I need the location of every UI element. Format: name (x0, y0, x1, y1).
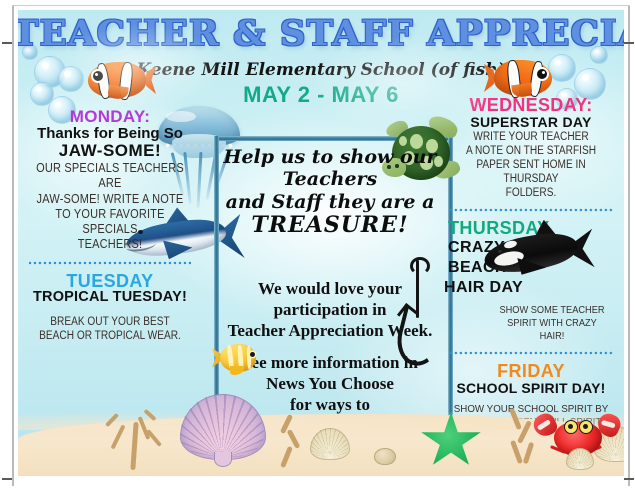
thursday-body: SHOW SOME TEACHER SPIRIT WITH CRAZY HAIR… (496, 304, 609, 342)
friday-subtitle: SCHOOL SPIRIT DAY! (442, 381, 620, 396)
coral-icon (104, 408, 168, 470)
monday-block: MONDAY: Thanks for Being So JAW-SOME! OU… (22, 108, 198, 253)
wednesday-body-line: A NOTE ON THE STARFISH (453, 144, 610, 158)
tuesday-body-line: BEACH OR TROPICAL WEAR. (33, 329, 188, 343)
clownfish-icon (82, 56, 156, 104)
monday-body-line: TO YOUR FAVORITE SPECIALS (33, 207, 188, 238)
wednesday-body-line: PAPER SENT HOME IN THURSDAY (453, 158, 610, 186)
monday-body-line: OUR SPECIALS TEACHERS ARE (33, 161, 188, 192)
yellow-fish-icon (212, 340, 264, 376)
tuesday-subtitle: TROPICAL TUESDAY! (22, 290, 198, 306)
seaweed-icon (280, 414, 302, 470)
divider-wednesday-thursday (449, 207, 613, 213)
thursday-body-line: SPIRIT WITH CRAZY (496, 317, 609, 330)
fishing-hook-icon (396, 260, 436, 368)
tuesday-heading: TUESDAY (22, 272, 198, 291)
wednesday-block: WEDNESDAY: SUPERSTAR DAY WRITE YOUR TEAC… (442, 96, 620, 200)
scan-edge-right (628, 6, 630, 486)
scallop-shell-icon (566, 448, 592, 470)
crop-mark-bottom-right (624, 478, 634, 480)
center-script-line-3: and Staff they are a (214, 191, 446, 213)
divider-thursday-friday (449, 350, 613, 356)
friday-heading: FRIDAY (442, 362, 620, 381)
center-script-line-4: TREASURE! (214, 213, 446, 239)
monday-heading: MONDAY: (22, 108, 198, 126)
monday-body-line: TEACHERS! (33, 237, 188, 252)
thursday-body-line: SHOW SOME TEACHER (496, 304, 609, 317)
wednesday-body-line: WRITE YOUR TEACHER (453, 130, 610, 144)
seaweed-icon (510, 408, 536, 470)
crop-mark-top-left (2, 42, 12, 44)
center-script-block: Help us to show our Teachers and Staff t… (214, 146, 446, 239)
crop-mark-bottom-left (2, 478, 12, 480)
wednesday-body: WRITE YOUR TEACHER A NOTE ON THE STARFIS… (453, 130, 610, 200)
monday-body-line: JAW-SOME! WRITE A NOTE (33, 192, 188, 207)
center-script-line-1: Help us to show our (214, 146, 446, 168)
page-title: TEACHER & STAFF APPRECIATION WEEK (18, 16, 624, 51)
thursday-body-line: HAIR! (496, 330, 609, 343)
tuesday-block: TUESDAY TROPICAL TUESDAY! BREAK OUT YOUR… (22, 272, 198, 344)
crop-mark-top-right (624, 42, 634, 44)
monday-subtitle-2: JAW-SOME! (22, 142, 198, 161)
orca-whale-icon (476, 222, 596, 286)
starfish-icon (420, 412, 482, 470)
scallop-shell-icon (310, 428, 348, 462)
scan-edge-left (12, 6, 14, 486)
wednesday-subtitle: SUPERSTAR DAY (442, 115, 620, 130)
tuesday-body-line: BREAK OUT YOUR BEST (33, 315, 188, 329)
center-serif-line-5: News You Choose (208, 373, 452, 394)
tuesday-body: BREAK OUT YOUR BEST BEACH OR TROPICAL WE… (33, 315, 188, 343)
scan-edge-top (12, 5, 630, 6)
underwater-background: TEACHER & STAFF APPRECIATION WEEK Keene … (18, 10, 624, 476)
divider-monday-tuesday (29, 260, 191, 266)
appreciation-week-flyer: TEACHER & STAFF APPRECIATION WEEK Keene … (0, 0, 635, 492)
wednesday-heading: WEDNESDAY: (442, 96, 620, 115)
monday-body: OUR SPECIALS TEACHERS ARE JAW-SOME! WRIT… (33, 161, 188, 253)
center-script-line-2: Teachers (214, 168, 446, 190)
monday-tuesday-column: MONDAY: Thanks for Being So JAW-SOME! OU… (22, 108, 198, 343)
monday-subtitle: Thanks for Being So (22, 126, 198, 143)
pebble-icon (374, 448, 396, 465)
wednesday-body-line: FOLDERS. (453, 186, 610, 200)
scallop-shell-icon (180, 394, 264, 468)
